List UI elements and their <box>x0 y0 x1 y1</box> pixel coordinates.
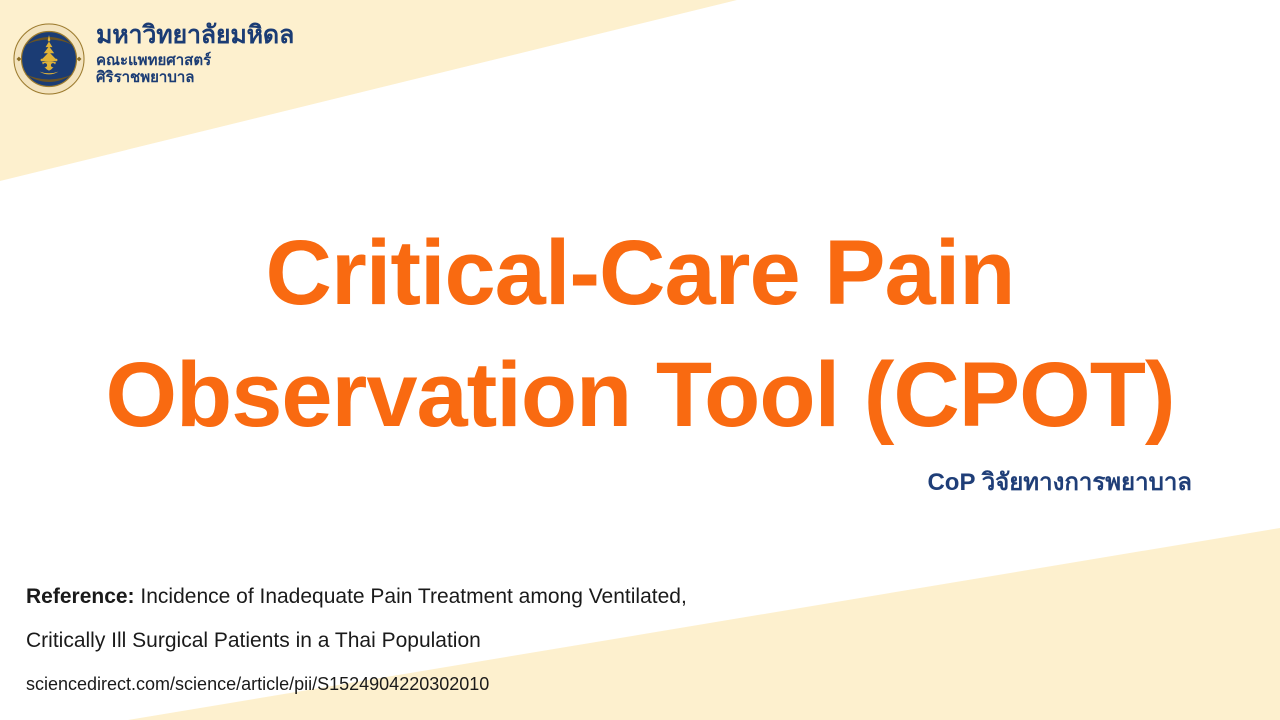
slide-title: Critical-Care Pain Observation Tool (CPO… <box>0 212 1280 456</box>
reference-url[interactable]: sciencedirect.com/science/article/pii/S1… <box>26 672 687 696</box>
reference-title-line-2: Critically Ill Surgical Patients in a Th… <box>26 627 687 655</box>
faculty-name: คณะแพทยศาสตร์ <box>96 53 294 68</box>
slide-subtitle: CoP วิจัยทางการพยาบาล <box>927 462 1192 501</box>
university-name: มหาวิทยาลัยมหิดล <box>96 23 294 48</box>
presentation-slide: มหาวิทยาลัยมหิดล คณะแพทยศาสตร์ ศิริราชพย… <box>0 0 1280 720</box>
institution-logo-lockup: มหาวิทยาลัยมหิดล คณะแพทยศาสตร์ ศิริราชพย… <box>12 20 294 96</box>
title-line-2: Observation Tool (CPOT) <box>0 334 1280 456</box>
title-line-1: Critical-Care Pain <box>0 212 1280 334</box>
mahidol-university-seal-icon <box>12 22 86 96</box>
reference-title-line-1: Incidence of Inadequate Pain Treatment a… <box>140 585 686 608</box>
reference-label: Reference: <box>26 585 135 608</box>
institution-logo-text: มหาวิทยาลัยมหิดล คณะแพทยศาสตร์ ศิริราชพย… <box>96 20 294 85</box>
reference-first-line: Reference: Incidence of Inadequate Pain … <box>26 583 687 611</box>
hospital-name: ศิริราชพยาบาล <box>96 70 294 85</box>
reference-block: Reference: Incidence of Inadequate Pain … <box>26 583 687 696</box>
